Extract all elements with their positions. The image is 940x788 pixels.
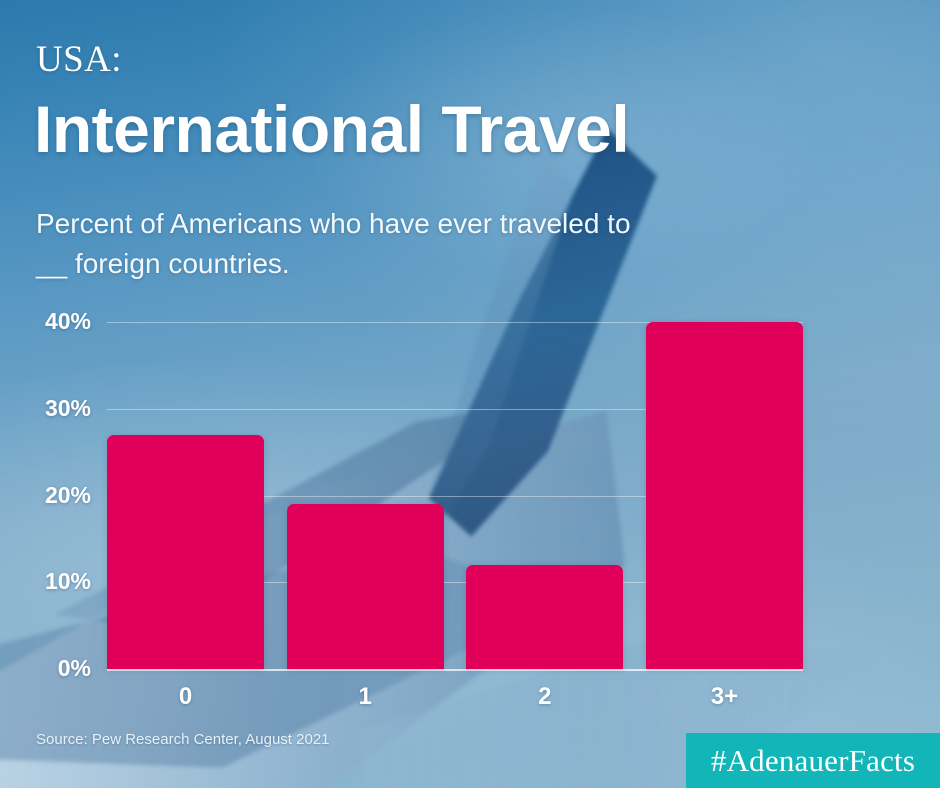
bar (287, 504, 444, 669)
source-note: Source: Pew Research Center, August 2021 (36, 731, 330, 748)
bar (646, 322, 803, 669)
hashtag-badge: #AdenauerFacts (686, 733, 940, 788)
page-title: International Travel (34, 96, 629, 162)
eyebrow-label: USA: (36, 41, 122, 78)
bar-group-0: 0 (107, 322, 264, 669)
bars-group: 0123+ (107, 322, 803, 669)
y-axis-tick-label: 40% (45, 308, 91, 335)
page-subtitle: Percent of Americans who have ever trave… (36, 204, 636, 285)
x-axis-tick-label: 1 (287, 683, 444, 711)
bar-group-2: 2 (466, 322, 623, 669)
x-axis-tick-label: 0 (107, 683, 264, 711)
y-axis-tick-label: 10% (45, 568, 91, 595)
bar-chart: 0%10%20%30%40% 0123+ (107, 322, 803, 669)
bar (107, 435, 264, 669)
y-axis-tick-label: 0% (58, 655, 91, 682)
x-axis-tick-label: 2 (466, 683, 623, 711)
y-axis-tick-label: 30% (45, 395, 91, 422)
infographic-poster: USA: International Travel Percent of Ame… (0, 0, 940, 788)
x-axis-tick-label: 3+ (646, 683, 803, 711)
bar (466, 565, 623, 669)
bar-group-1: 1 (287, 322, 444, 669)
axis-baseline: 0% (107, 669, 803, 671)
y-axis-tick-label: 20% (45, 481, 91, 508)
bar-group-3plus: 3+ (646, 322, 803, 669)
